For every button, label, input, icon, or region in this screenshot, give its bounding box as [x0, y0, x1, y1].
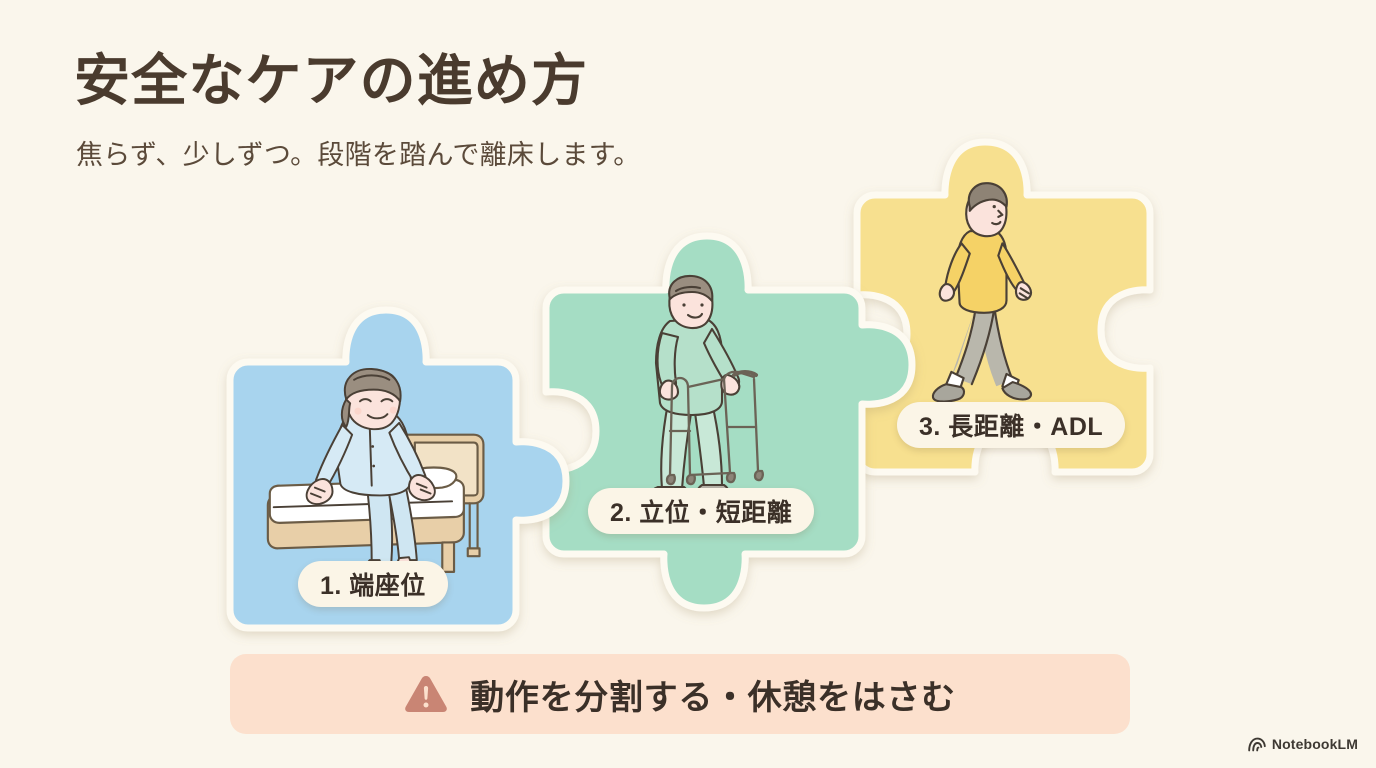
- step-label-1: 1. 端座位: [298, 561, 448, 607]
- notebooklm-label: NotebookLM: [1272, 736, 1358, 752]
- warning-triangle-icon: [404, 674, 448, 714]
- step-label-2: 2. 立位・短距離: [588, 488, 814, 534]
- puzzle-diagram: 1. 端座位 2. 立位・短距離 3. 長距離・ADL: [0, 0, 1376, 768]
- slide-canvas: 安全なケアの進め方 焦らず、少しずつ。段階を踏んで離床します。: [0, 0, 1376, 768]
- caution-banner: 動作を分割する・休憩をはさむ: [230, 654, 1130, 734]
- caution-banner-text: 動作を分割する・休憩をはさむ: [470, 670, 956, 719]
- notebooklm-watermark: NotebookLM: [1248, 736, 1358, 752]
- step-label-3: 3. 長距離・ADL: [897, 402, 1125, 448]
- notebooklm-icon: [1248, 737, 1266, 752]
